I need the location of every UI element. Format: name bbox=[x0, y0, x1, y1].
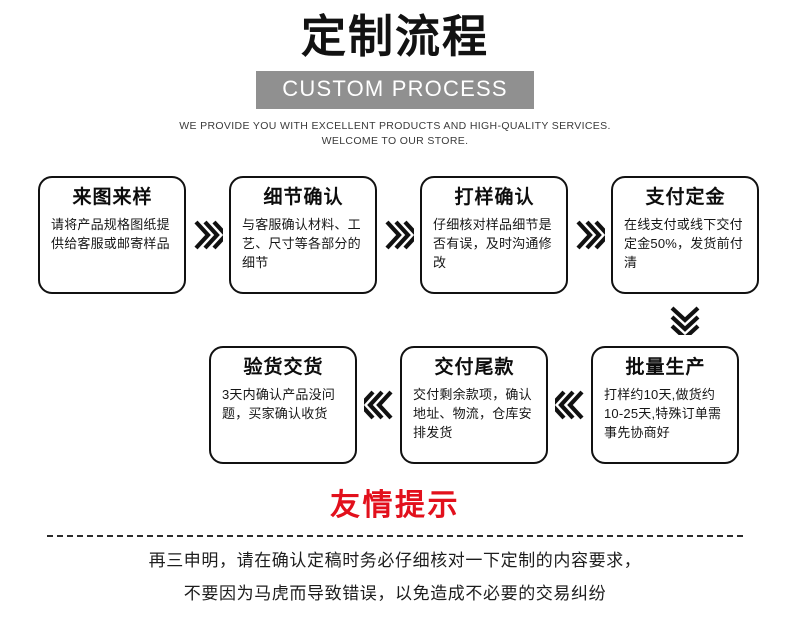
divider bbox=[47, 535, 743, 537]
chevron-left-triple-icon bbox=[357, 386, 400, 424]
flow-step-2: 细节确认 与客服确认材料、工艺、尺寸等各部分的细节 bbox=[229, 176, 377, 294]
footer: 友情提示 再三申明，请在确认定稿时务必仔细核对一下定制的内容要求， 不要因为马虎… bbox=[0, 487, 790, 610]
flow-step-3: 打样确认 仔细核对样品细节是否有误，及时沟通修改 bbox=[420, 176, 568, 294]
custom-process-infographic: 定制流程 CUSTOM PROCESS WE PROVIDE YOU WITH … bbox=[0, 0, 790, 633]
header: 定制流程 CUSTOM PROCESS WE PROVIDE YOU WITH … bbox=[0, 0, 790, 149]
flow-step-7-body: 3天内确认产品没问题，买家确认收货 bbox=[222, 385, 345, 423]
tagline-line-2: WELCOME TO OUR STORE. bbox=[0, 134, 790, 149]
tips-title: 友情提示 bbox=[0, 487, 790, 525]
page-title: 定制流程 bbox=[0, 12, 790, 62]
flow-step-6-body: 交付剩余款项，确认地址、物流，仓库安排发货 bbox=[413, 385, 536, 443]
flow-step-3-title: 打样确认 bbox=[433, 187, 556, 210]
flow-step-5-title: 批量生产 bbox=[604, 357, 727, 380]
footer-note-line-1: 再三申明，请在确认定稿时务必仔细核对一下定制的内容要求， bbox=[0, 544, 790, 577]
flow-step-4-body: 在线支付或线下交付定金50%，发货前付清 bbox=[624, 215, 747, 273]
tagline: WE PROVIDE YOU WITH EXCELLENT PRODUCTS A… bbox=[0, 119, 790, 149]
flow-step-4: 支付定金 在线支付或线下交付定金50%，发货前付清 bbox=[611, 176, 759, 294]
flow-row-2: 验货交货 3天内确认产品没问题，买家确认收货 交付尾款 交付剩余款项，确认地址、… bbox=[209, 346, 739, 464]
flow-step-1-title: 来图来样 bbox=[51, 187, 174, 210]
subtitle-banner: CUSTOM PROCESS bbox=[256, 71, 533, 108]
chevron-down-triple-icon bbox=[662, 300, 708, 340]
flow-step-1: 来图来样 请将产品规格图纸提供给客服或邮寄样品 bbox=[38, 176, 186, 294]
footer-note: 再三申明，请在确认定稿时务必仔细核对一下定制的内容要求， 不要因为马虎而导致错误… bbox=[0, 544, 790, 610]
flow-step-3-body: 仔细核对样品细节是否有误，及时沟通修改 bbox=[433, 215, 556, 273]
chevron-right-triple-icon bbox=[186, 216, 229, 254]
banner-wrap: CUSTOM PROCESS bbox=[0, 71, 790, 108]
flow-step-2-title: 细节确认 bbox=[242, 187, 365, 210]
flow-step-1-body: 请将产品规格图纸提供给客服或邮寄样品 bbox=[51, 215, 174, 253]
flow-step-7-title: 验货交货 bbox=[222, 357, 345, 380]
chevron-right-triple-icon bbox=[377, 216, 420, 254]
footer-note-line-2: 不要因为马虎而导致错误，以免造成不必要的交易纠纷 bbox=[0, 577, 790, 610]
flow-step-5-body: 打样约10天,做货约10-25天,特殊订单需事先协商好 bbox=[604, 385, 727, 443]
flow-step-6: 交付尾款 交付剩余款项，确认地址、物流，仓库安排发货 bbox=[400, 346, 548, 464]
tagline-line-1: WE PROVIDE YOU WITH EXCELLENT PRODUCTS A… bbox=[0, 119, 790, 134]
flow-step-6-title: 交付尾款 bbox=[413, 357, 536, 380]
flow-step-2-body: 与客服确认材料、工艺、尺寸等各部分的细节 bbox=[242, 215, 365, 273]
chevron-right-triple-icon bbox=[568, 216, 611, 254]
flow-step-7: 验货交货 3天内确认产品没问题，买家确认收货 bbox=[209, 346, 357, 464]
flow-row-1: 来图来样 请将产品规格图纸提供给客服或邮寄样品 细节确认 与客服确认材料、工艺、… bbox=[38, 176, 759, 294]
flow-step-4-title: 支付定金 bbox=[624, 187, 747, 210]
flow-step-5: 批量生产 打样约10天,做货约10-25天,特殊订单需事先协商好 bbox=[591, 346, 739, 464]
chevron-left-triple-icon bbox=[548, 386, 591, 424]
